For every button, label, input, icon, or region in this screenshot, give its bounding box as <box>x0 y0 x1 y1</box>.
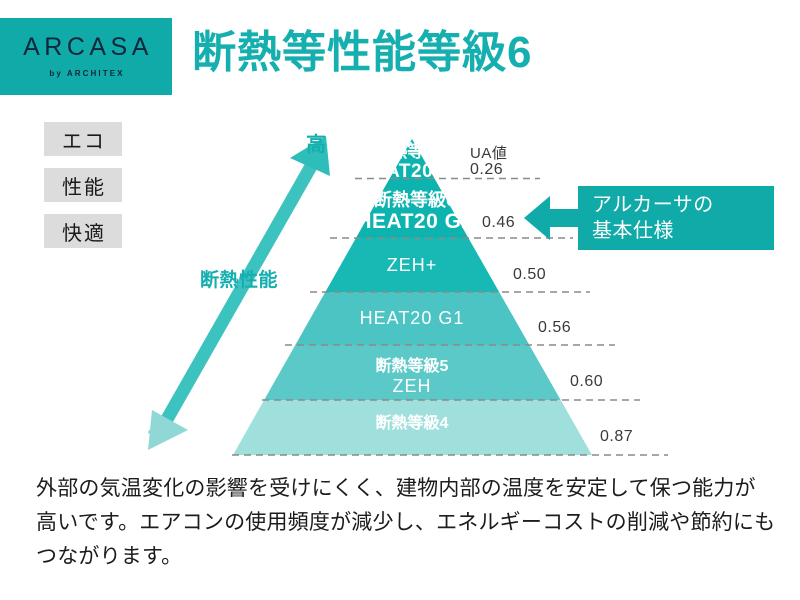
brand-logo-tagline: by ARCHITEX <box>47 69 124 78</box>
callout-line-2: 基本仕様 <box>592 218 774 244</box>
tag-list: エコ 性能 快適 <box>44 122 122 248</box>
pyramid-label-level-5-line1: 断熱等級5 <box>352 358 472 376</box>
pyramid-bands <box>200 139 620 456</box>
callout-line-1: アルカーサの <box>592 192 774 218</box>
tag-chip-eco: エコ <box>44 122 122 156</box>
pyramid-label-level-4-line1: HEAT20 G1 <box>342 308 482 328</box>
pyramid-label-level-3-line1: ZEH+ <box>352 255 472 275</box>
ua-value-level-2: 0.46 <box>482 214 515 232</box>
ua-value-header: UA値 <box>470 142 507 163</box>
body-paragraph: 外部の気温変化の影響を受けにくく、建物内部の温度を安定して保つ能力が高いです。エ… <box>36 472 776 574</box>
pyramid-label-level-5-line2: ZEH <box>352 376 472 396</box>
callout-basic-spec: アルカーサの 基本仕様 <box>578 186 774 250</box>
pyramid-label-level-2-line2: HEAT20 G2 <box>340 210 490 234</box>
pyramid-label-level-2: 断熱等級6 HEAT20 G2 <box>340 190 490 234</box>
tag-chip-label: エコ <box>60 125 106 154</box>
brand-logo: ARCASA by ARCHITEX <box>0 18 172 95</box>
ua-value-level-5: 0.60 <box>570 373 603 391</box>
pyramid-label-level-1: 断熱等級7 HEAT20 G3 <box>352 142 472 182</box>
tag-chip-comfort: 快適 <box>44 214 122 248</box>
pyramid-label-level-3: ZEH+ <box>352 255 472 275</box>
pyramid-label-level-6-line1: 断熱等級4 <box>352 415 472 433</box>
callout-arrow-icon <box>524 190 584 246</box>
pyramid-label-level-6: 断熱等級4 <box>352 415 472 433</box>
page-title: 断熱等性能等級6 <box>192 28 532 79</box>
tag-chip-performance: 性能 <box>44 168 122 202</box>
brand-logo-name: ARCASA <box>19 35 153 60</box>
tag-chip-label: 快適 <box>60 217 106 246</box>
arrow-label-insulation-performance: 断熱性能 <box>200 265 278 292</box>
arrow-label-high: 高 <box>306 128 326 157</box>
pyramid-label-level-1-line1: 断熱等級7 <box>352 142 472 161</box>
pyramid-label-level-4: HEAT20 G1 <box>342 308 482 328</box>
pyramid-label-level-2-line1: 断熱等級6 <box>340 190 490 210</box>
ua-value-level-4: 0.56 <box>538 319 571 337</box>
arrow-label-low: 低 <box>148 419 167 446</box>
slide-canvas: ARCASA by ARCHITEX 断熱等性能等級6 エコ 性能 快適 <box>0 0 800 600</box>
ua-value-level-3: 0.50 <box>513 266 546 284</box>
ua-value-level-1: 0.26 <box>470 161 503 179</box>
pyramid-label-level-1-line2: HEAT20 G3 <box>352 161 472 182</box>
tag-chip-label: 性能 <box>60 171 106 200</box>
performance-direction-arrow <box>130 128 350 458</box>
pyramid-label-level-5: 断熱等級5 ZEH <box>352 358 472 396</box>
ua-value-level-6: 0.87 <box>600 428 633 446</box>
